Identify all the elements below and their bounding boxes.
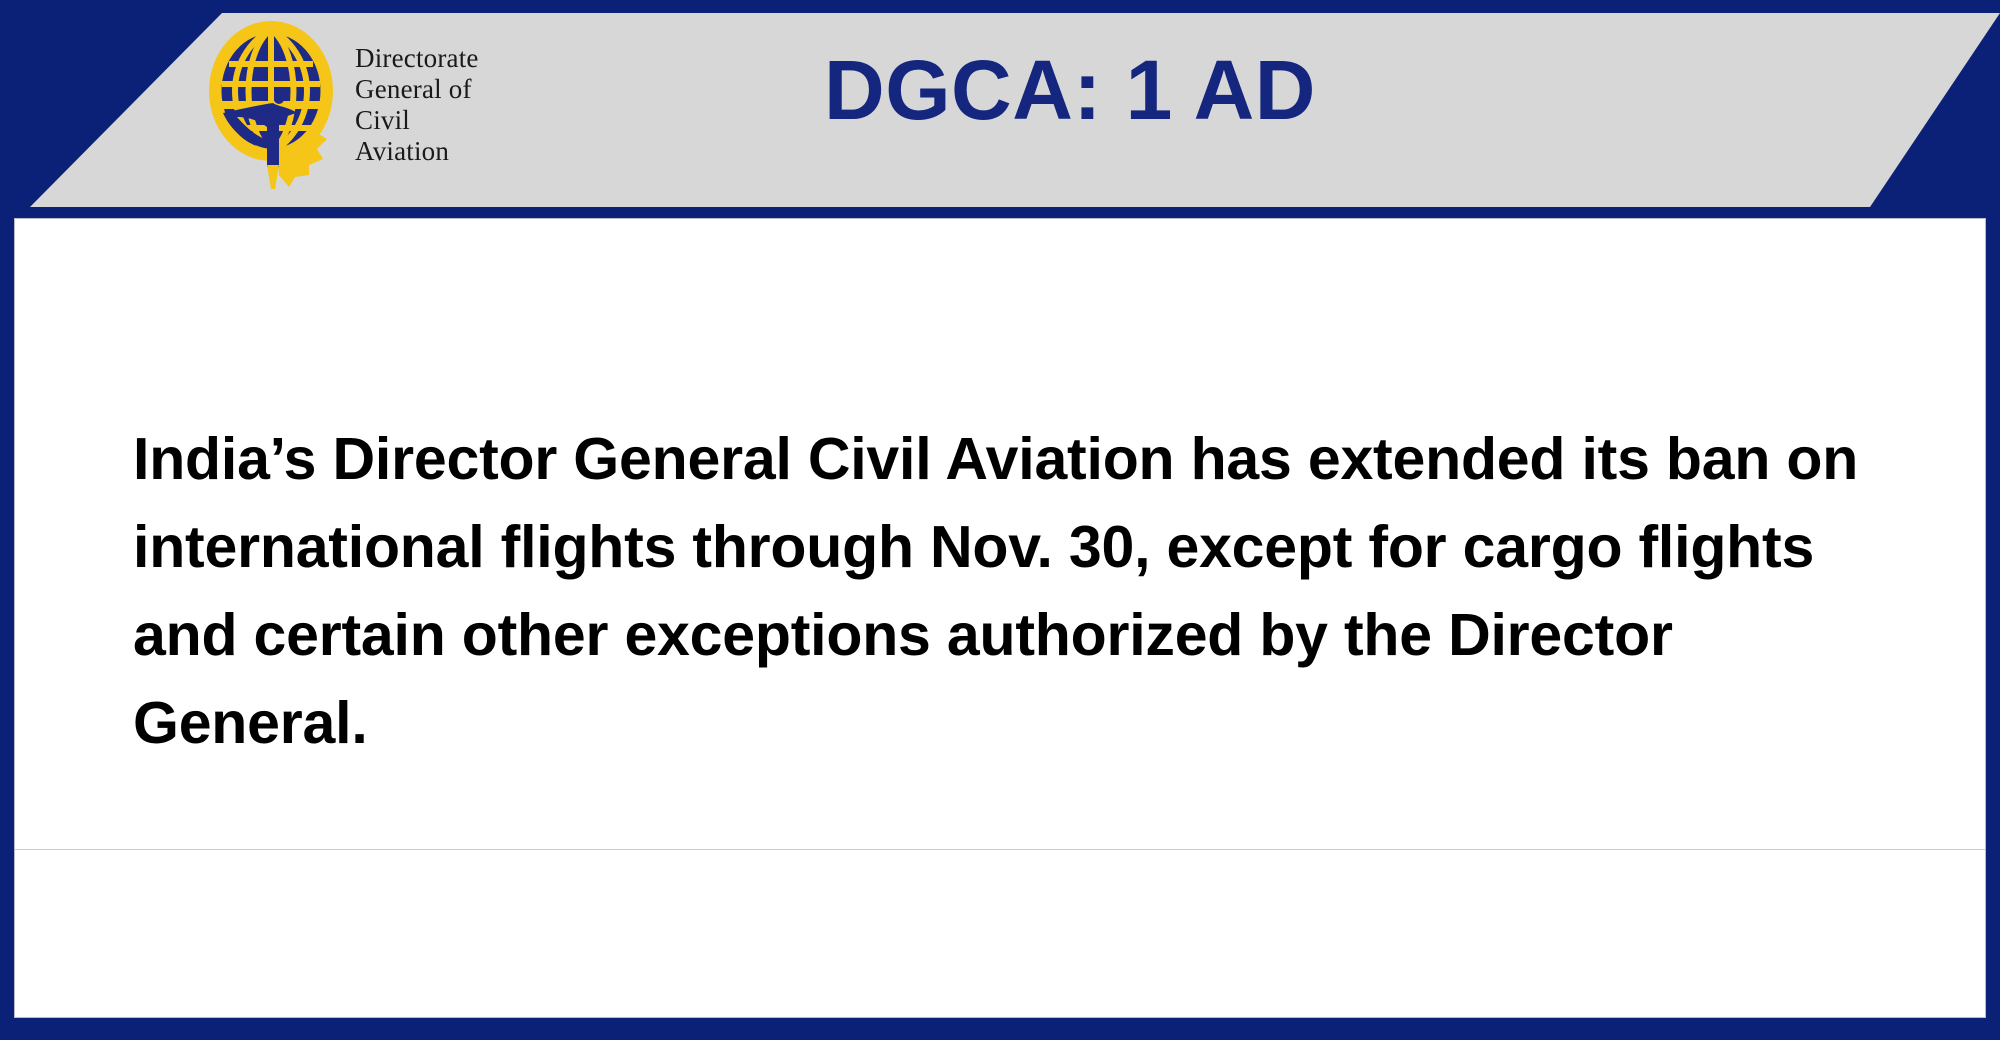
slide-title: DGCA: 1 AD [480, 44, 1660, 136]
wordmark-line-1: Directorate [355, 43, 479, 74]
wordmark-line-4: Aviation [355, 136, 479, 167]
wordmark-line-3: Civil [355, 105, 479, 136]
dgca-wordmark: Directorate General of Civil Aviation [355, 39, 479, 167]
slide-body-text: India’s Director General Civil Aviation … [133, 415, 1893, 767]
dgca-logo-lockup: Directorate General of Civil Aviation [205, 14, 479, 192]
wordmark-line-2: General of [355, 74, 479, 105]
content-footer-zone [15, 850, 1985, 1017]
dgca-globe-logo-icon [205, 17, 341, 189]
slide-canvas: Directorate General of Civil Aviation DG… [0, 0, 2000, 1040]
content-card: India’s Director General Civil Aviation … [14, 218, 1986, 1018]
